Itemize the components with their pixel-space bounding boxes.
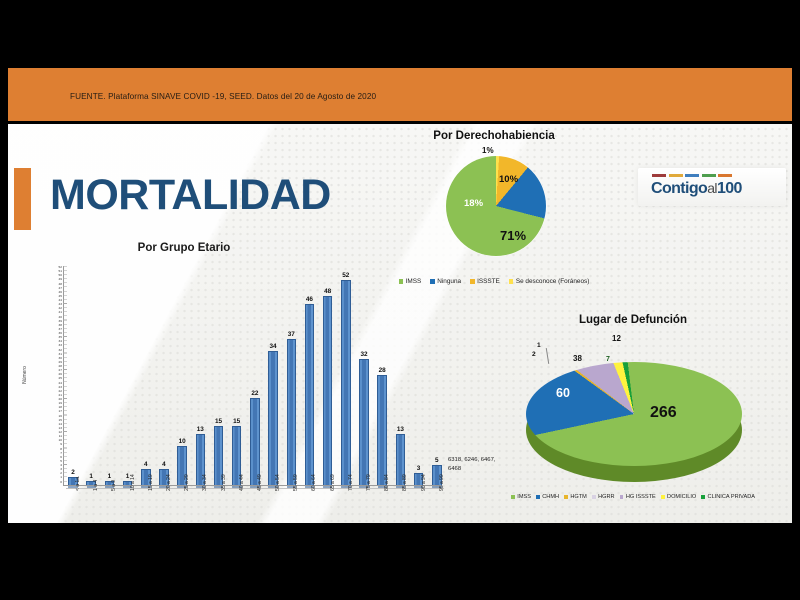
x-tick-label: 10 a 14	[130, 477, 136, 491]
pie2-value-label: 38	[573, 354, 582, 363]
bar-rect[interactable]	[287, 339, 297, 485]
bar-column[interactable]: 52	[339, 266, 353, 485]
x-tick-label: 75 a 79	[366, 477, 372, 491]
bar-value-label: 10	[179, 438, 186, 445]
legend-item[interactable]: IMSS	[511, 494, 531, 500]
legend-label: IMSS	[406, 278, 422, 285]
bar-value-label: 22	[251, 390, 258, 397]
x-tick-label: 15 a 19	[148, 477, 154, 491]
bar-value-label: 5	[435, 457, 439, 464]
bar-value-label: 52	[342, 272, 349, 279]
bar-value-label: 34	[270, 343, 277, 350]
pie2-value-label: 12	[612, 334, 621, 343]
bar-rect[interactable]	[341, 280, 351, 485]
bar-column[interactable]: 1	[102, 266, 116, 485]
pie2-value-label: 60	[556, 386, 570, 400]
bar-value-label: 28	[379, 367, 386, 374]
bar-column[interactable]: 48	[321, 266, 335, 485]
bar-value-label: 15	[233, 418, 240, 425]
x-tick-label: 5 a 9	[111, 477, 117, 491]
bar-value-label: 46	[306, 296, 313, 303]
bar-column[interactable]: 10	[175, 266, 189, 485]
legend-item[interactable]: Ninguna	[430, 278, 461, 285]
legend-label: CHMH	[542, 494, 559, 500]
bar-value-label: 4	[144, 461, 148, 468]
legend-label: DOMICILIO	[667, 494, 696, 500]
bar-value-label: 3	[417, 465, 421, 472]
source-text: FUENTE. Plataforma SINAVE COVID -19, SEE…	[70, 92, 376, 101]
x-tick-label: 30 a 34	[202, 477, 208, 491]
pie1-value-label: 10%	[499, 174, 518, 185]
legend-swatch-icon	[661, 495, 665, 499]
legend-item[interactable]: HG ISSSTE	[620, 494, 656, 500]
contigo-al-100-logo: Contigoal100	[638, 168, 786, 208]
bar-column[interactable]: 15	[230, 266, 244, 485]
bar-column[interactable]: 37	[284, 266, 298, 485]
legend-item[interactable]: CHMH	[536, 494, 559, 500]
x-tick-label: 90 a 94	[421, 477, 427, 491]
legend-item[interactable]: HGTM	[564, 494, 587, 500]
bar-rect[interactable]	[377, 375, 387, 485]
bar-column[interactable]: 1	[84, 266, 98, 485]
x-tick-label: 95 a 99	[439, 477, 445, 491]
pie2-value-label: 1	[537, 342, 541, 349]
x-tick-label: 1 a 4	[93, 477, 99, 491]
x-tick-label: 65 a 69	[330, 477, 336, 491]
bar-column[interactable]: 4	[157, 266, 171, 485]
x-tick-label: 45 a 49	[257, 477, 263, 491]
y-tick-label: 49	[59, 278, 62, 281]
bar-value-label: 13	[397, 426, 404, 433]
legend-swatch-icon	[701, 495, 705, 499]
letterbox-top	[0, 0, 800, 68]
pie1-value-label: 18%	[464, 198, 483, 209]
x-tick-label: 80 a 84	[384, 477, 390, 491]
bar-column[interactable]: 2	[66, 266, 80, 485]
slide-screenshot: FUENTE. Plataforma SINAVE COVID -19, SEE…	[0, 0, 800, 600]
bar-value-label: 1	[126, 473, 130, 480]
y-tick-label: 9	[60, 443, 62, 446]
title-accent-bar	[14, 168, 31, 230]
legend-swatch-icon	[430, 279, 435, 284]
bar-rect[interactable]	[268, 351, 278, 485]
slide-content: MORTALIDAD Contigoal100 Por Grupo Etario…	[8, 124, 792, 534]
x-tick-label: < a 1a.	[75, 477, 81, 491]
pie1-title: Por Derechohabiencia	[360, 130, 628, 142]
bar-column[interactable]: 15	[212, 266, 226, 485]
bar-chart-y-axis-label: Número	[22, 350, 28, 400]
legend-swatch-icon	[536, 495, 540, 499]
legend-swatch-icon	[511, 495, 515, 499]
pie2-value-label: 7	[606, 356, 610, 363]
x-tick-label: 70 a 74	[348, 477, 354, 491]
bar-column[interactable]: 22	[248, 266, 262, 485]
pie2-plot: 266 60 1 2 38 12 7	[478, 338, 788, 488]
pie2-value-label: 266	[650, 404, 677, 422]
bar-value-label: 13	[197, 426, 204, 433]
legend-swatch-icon	[620, 495, 624, 499]
y-tick-label: 1	[60, 476, 62, 479]
pie2-value-label: 2	[532, 351, 536, 358]
legend-label: Ninguna	[437, 278, 461, 285]
bar-column[interactable]: 46	[302, 266, 316, 485]
bar-column[interactable]: 4	[139, 266, 153, 485]
legend-label: ISSSTE	[477, 278, 500, 285]
legend-item[interactable]: CLINICA PRIVADA	[701, 494, 755, 500]
pie1-disc	[446, 156, 546, 256]
bar-value-label: 48	[324, 288, 331, 295]
legend-swatch-icon	[399, 279, 404, 284]
legend-item[interactable]: DOMICILIO	[661, 494, 697, 500]
y-tick-label: 0	[60, 481, 62, 484]
bar-value-label: 32	[360, 351, 367, 358]
pie1-legend: IMSSNingunaISSSTESe desconoce (Foráneos)	[360, 278, 628, 285]
logo-color-bars	[652, 174, 732, 177]
logo-wordmark: Contigoal100	[651, 180, 742, 198]
bar-column[interactable]: 34	[266, 266, 280, 485]
bar-value-label: 15	[215, 418, 222, 425]
legend-label: HGTM	[570, 494, 586, 500]
legend-swatch-icon	[564, 495, 568, 499]
bar-chart-y-ticks: 0123456789101112131415161718192021222324…	[36, 266, 62, 484]
legend-label: Se desconoce (Foráneos)	[516, 278, 590, 285]
bar-value-label: 4	[162, 461, 166, 468]
pie2-leader-line	[546, 348, 549, 364]
logo-word-num: 100	[717, 180, 742, 197]
x-tick-label: 85 a 89	[402, 477, 408, 491]
page-title: MORTALIDAD	[50, 171, 331, 220]
y-tick-label: 17	[59, 410, 62, 413]
bar-value-label: 37	[288, 331, 295, 338]
legend-item[interactable]: Se desconoce (Foráneos)	[509, 278, 590, 285]
legend-item[interactable]: HGRR	[592, 494, 615, 500]
x-tick-label: 35 a 39	[221, 477, 227, 491]
pie2-title: Lugar de Defunción	[478, 314, 788, 326]
bar-chart-title: Por Grupo Etario	[14, 242, 354, 254]
bar-rect[interactable]	[305, 304, 315, 485]
legend-label: HG ISSSTE	[626, 494, 656, 500]
bar-rect[interactable]	[323, 296, 333, 485]
pie1-plot: 1% 10% 18% 71%	[360, 152, 628, 270]
x-tick-label: 55 a 59	[293, 477, 299, 491]
pie1-value-label: 1%	[482, 146, 494, 155]
pie-chart-lugar-defuncion: Lugar de Defunción 266 60 1 2 38 12 7 IM…	[478, 314, 788, 534]
y-tick-label: 41	[59, 311, 62, 314]
pie2-legend: IMSSCHMHHGTMHGRRHG ISSSTEDOMICILIOCLINIC…	[478, 494, 788, 500]
legend-swatch-icon	[470, 279, 475, 284]
x-tick-label: 25 a 29	[184, 477, 190, 491]
pie2-disc	[526, 362, 742, 466]
x-tick-label: 20 a 24	[166, 477, 172, 491]
bar-column[interactable]: 1	[121, 266, 135, 485]
legend-label: CLINICA PRIVADA	[708, 494, 755, 500]
bar-column[interactable]: 13	[193, 266, 207, 485]
legend-swatch-icon	[592, 495, 596, 499]
logo-word-thin: al	[707, 180, 717, 196]
letterbox-bottom	[0, 523, 800, 600]
legend-label: HGRR	[598, 494, 614, 500]
pie-chart-derechohabiencia: Por Derechohabiencia 1% 10% 18% 71% IMSS…	[360, 130, 628, 305]
x-tick-label: 50 a 54	[275, 477, 281, 491]
x-tick-label: 60 a 64	[311, 477, 317, 491]
y-tick-label: 33	[59, 344, 62, 347]
logo-word-main: Contigo	[651, 180, 707, 197]
legend-label: IMSS	[517, 494, 531, 500]
legend-item[interactable]: IMSS	[399, 278, 422, 285]
legend-item[interactable]: ISSSTE	[470, 278, 500, 285]
y-tick-label: 25	[59, 377, 62, 380]
x-tick-label: 40 a 44	[239, 477, 245, 491]
pie1-value-label: 71%	[500, 228, 526, 243]
bar-rect[interactable]	[250, 398, 260, 485]
legend-swatch-icon	[509, 279, 514, 284]
bar-rect[interactable]	[359, 359, 369, 485]
